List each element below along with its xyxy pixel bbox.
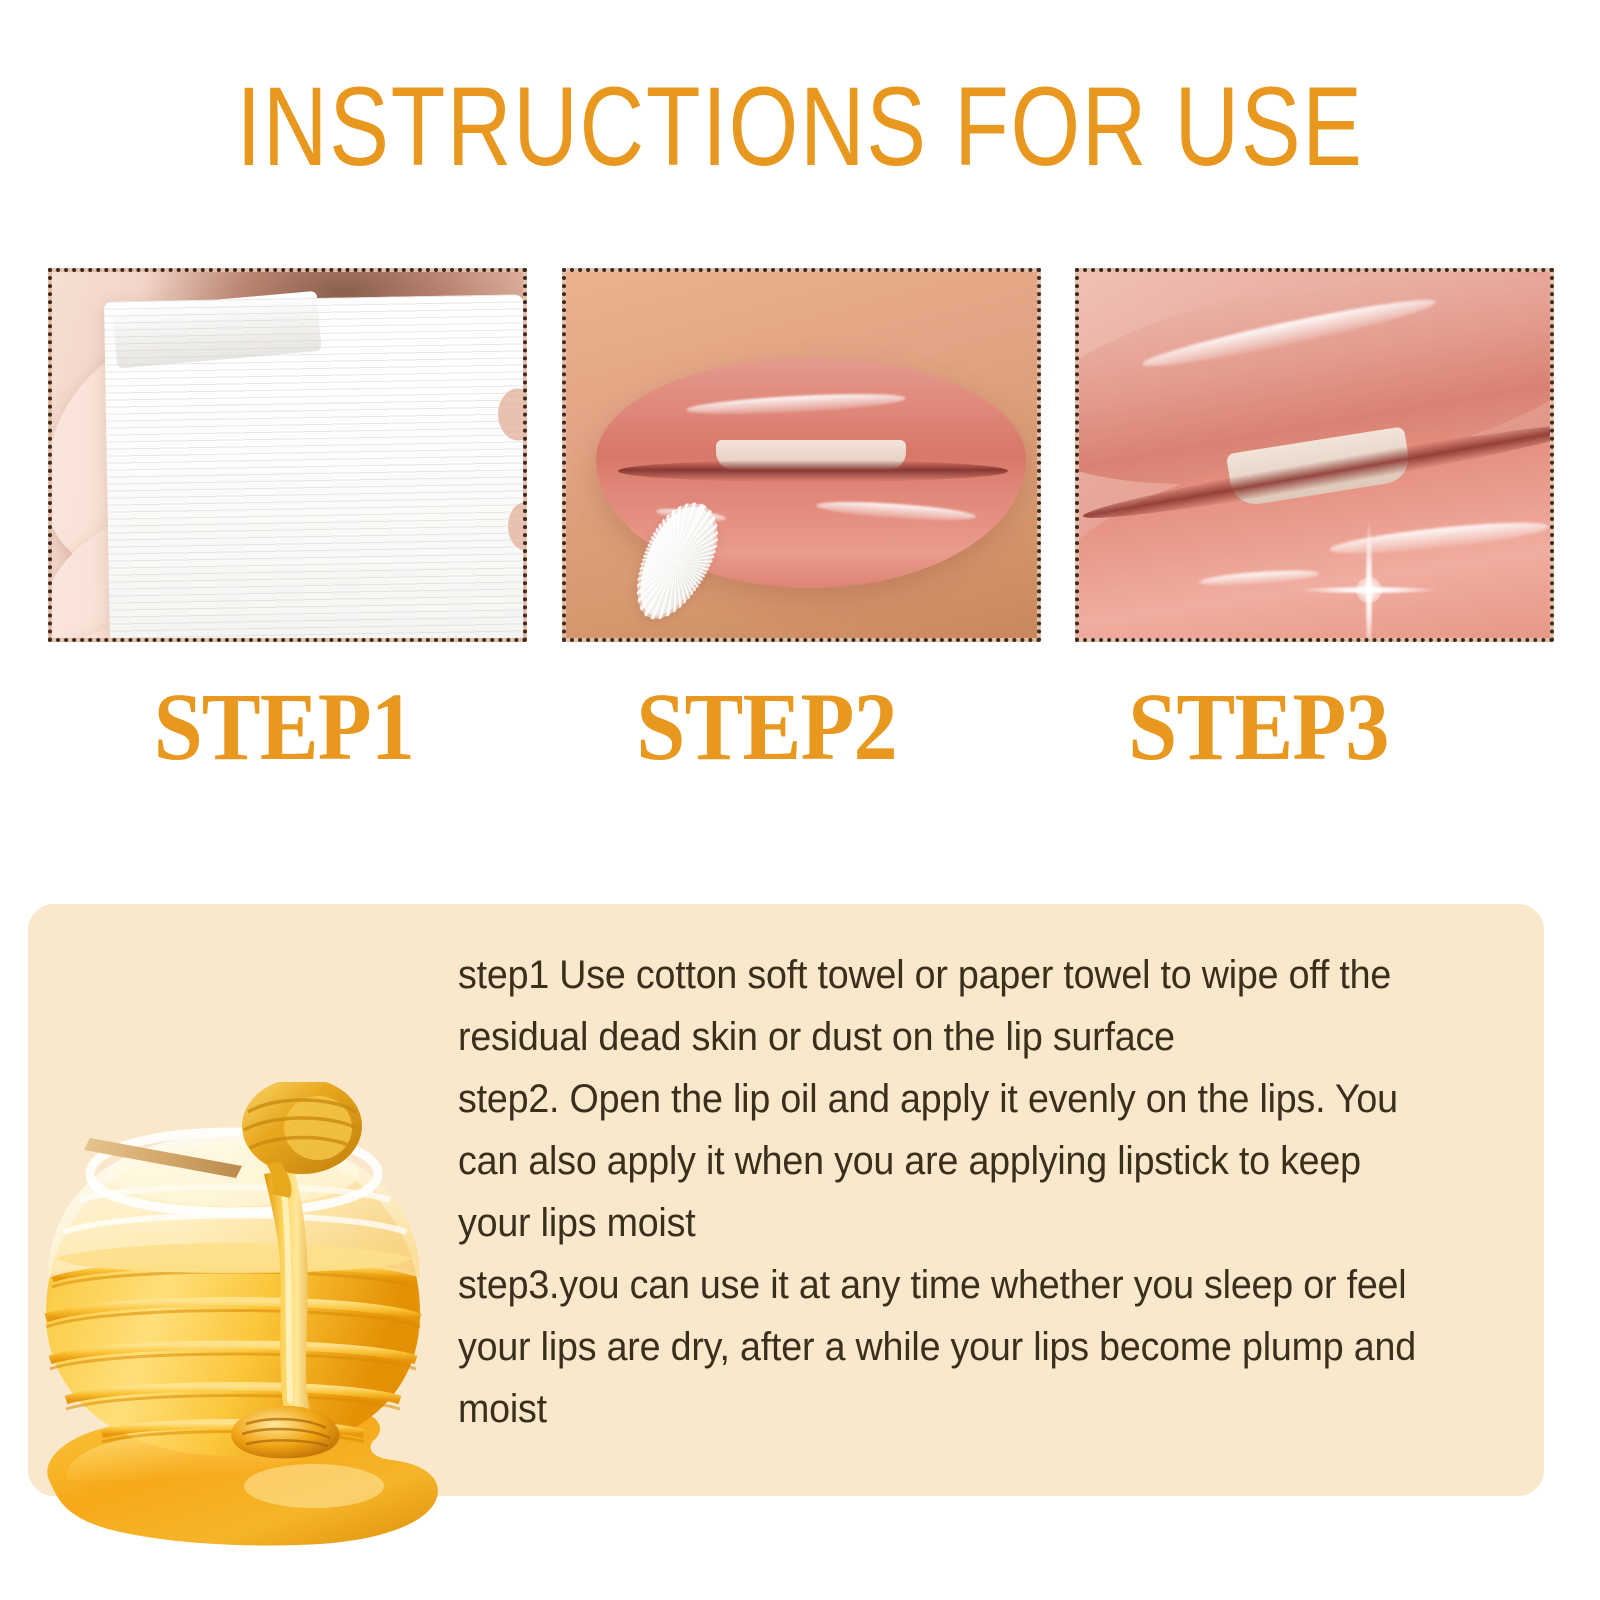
honey-puddle-shine [244, 1464, 384, 1508]
step-image-2 [562, 268, 1041, 642]
honey-jar-icon [28, 1082, 458, 1552]
step-label-2: STEP2 [546, 672, 987, 782]
step-image-row [48, 268, 1554, 642]
sparkle-core [1356, 577, 1382, 603]
step-image-1 [48, 268, 527, 642]
cotton-pad-icon [104, 294, 523, 638]
step-label-3: STEP3 [1038, 672, 1479, 782]
instructions-page: INSTRUCTIONS FOR USE [0, 0, 1600, 1600]
lip-line [618, 460, 1008, 482]
step-image-3 [1075, 268, 1554, 642]
cotton-pad-fold [112, 291, 321, 369]
step-label-row: STEP1 STEP2 STEP3 [48, 672, 1554, 782]
step-label-1: STEP1 [63, 672, 504, 782]
sparkle-icon [1299, 520, 1439, 638]
page-title: INSTRUCTIONS FOR USE [160, 72, 1440, 182]
cotton-pad-notch [498, 388, 523, 441]
cotton-pad-notch [508, 502, 523, 551]
description-text: step1 Use cotton soft towel or paper tow… [458, 944, 1436, 1440]
